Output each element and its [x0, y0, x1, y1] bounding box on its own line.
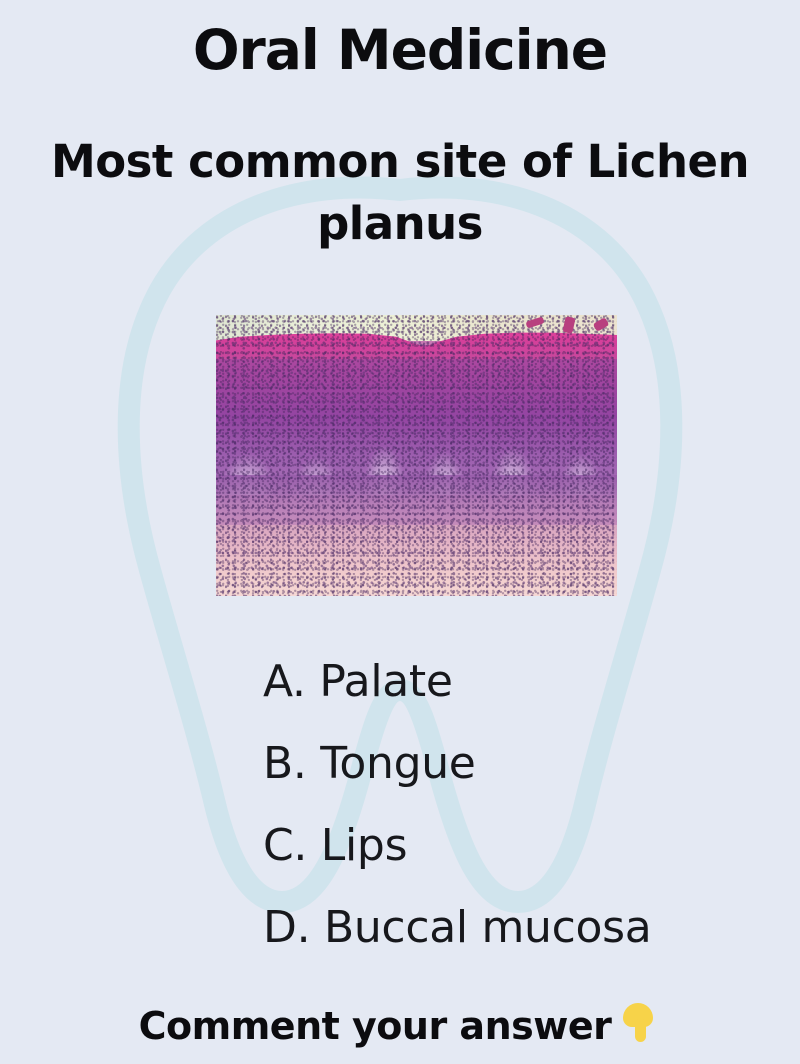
option-a[interactable]: A. Palate — [263, 641, 783, 723]
page-title: Oral Medicine — [0, 18, 800, 82]
option-c[interactable]: C. Lips — [263, 805, 783, 887]
quiz-card: mas try_ Oral Medicine Most common site … — [0, 0, 800, 1064]
question-text: Most common site of Lichen planus — [40, 131, 760, 255]
comment-cta-label: Comment your answer — [139, 1004, 612, 1048]
histopathology-image — [216, 315, 617, 596]
option-d[interactable]: D. Buccal mucosa — [263, 887, 783, 969]
backhand-index-pointing-down-icon — [621, 1001, 661, 1045]
emoji-finger — [635, 1019, 646, 1042]
answer-options-list: A. Palate B. Tongue C. Lips D. Buccal mu… — [263, 641, 783, 969]
comment-cta: Comment your answer — [0, 1001, 800, 1050]
option-b[interactable]: B. Tongue — [263, 723, 783, 805]
nuclei-speckle-texture-fine — [216, 315, 617, 596]
